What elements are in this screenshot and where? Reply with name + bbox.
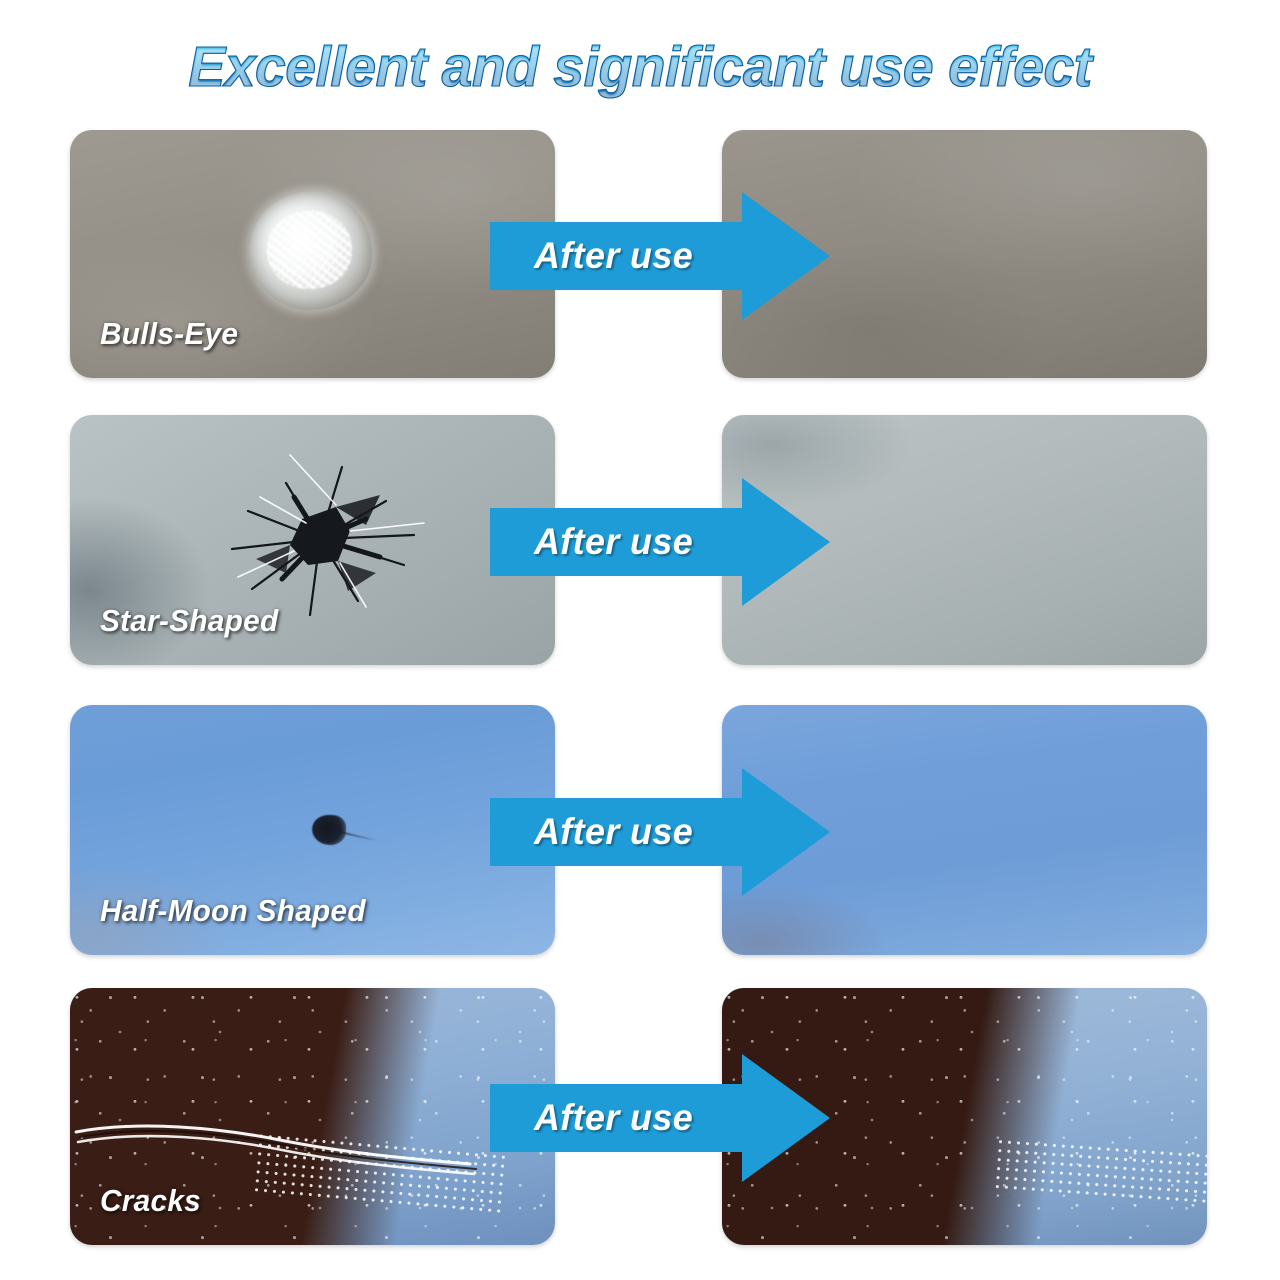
page-title: Excellent and significant use effect: [19, 34, 1261, 100]
arrow-right-icon: [490, 1054, 830, 1182]
long-crack-icon: [70, 1106, 555, 1186]
arrow-right-icon: [490, 478, 830, 606]
before-label-star-shaped: Star-Shaped: [100, 603, 278, 639]
comparison-row-cracks: Cracks After use: [0, 988, 1280, 1245]
comparison-row-bulls-eye: Bulls-Eye After use: [0, 130, 1280, 378]
before-label-cracks: Cracks: [100, 1183, 201, 1219]
arrow-right-icon: [490, 192, 830, 320]
bullseye-chip-icon: [250, 192, 372, 310]
after-use-arrow-bulls-eye: After use: [490, 192, 830, 320]
before-panel-bulls-eye: Bulls-Eye: [70, 130, 555, 378]
after-use-arrow-star-shaped: After use: [490, 478, 830, 606]
before-label-bulls-eye: Bulls-Eye: [100, 316, 238, 352]
after-use-arrow-cracks: After use: [490, 1054, 830, 1182]
before-label-half-moon: Half-Moon Shaped: [100, 893, 366, 929]
arrow-right-icon: [490, 768, 830, 896]
before-panel-cracks: Cracks: [70, 988, 555, 1245]
comparison-row-star-shaped: Star-Shaped After use: [0, 415, 1280, 665]
before-panel-half-moon: Half-Moon Shaped: [70, 705, 555, 955]
half-moon-chip-icon: [312, 815, 346, 845]
after-use-arrow-half-moon: After use: [490, 768, 830, 896]
before-panel-star-shaped: Star-Shaped: [70, 415, 555, 665]
comparison-row-half-moon: Half-Moon Shaped After use: [0, 705, 1280, 955]
